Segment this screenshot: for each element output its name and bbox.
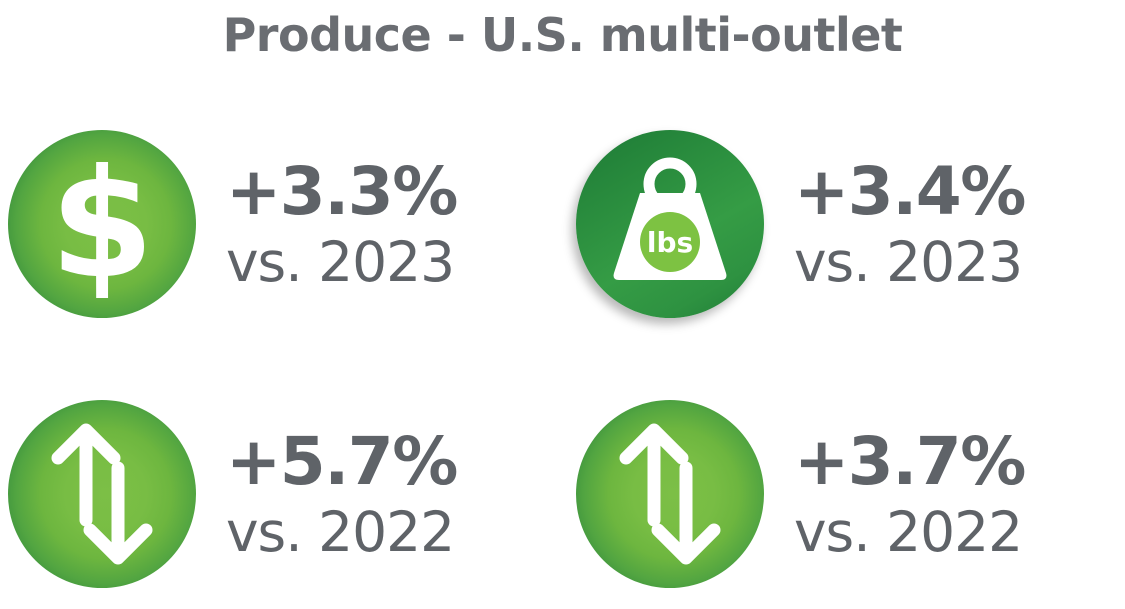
stat-card-dollar-sales-two-year: +5.7% vs. 2022 — [8, 400, 457, 588]
produce-stats-infographic: Produce - U.S. multi-outlet $ +3.3% vs. … — [0, 0, 1125, 609]
stat-text-block: +3.7% vs. 2022 — [794, 429, 1025, 560]
stats-grid: $ +3.3% vs. 2023 lbs — [0, 118, 1125, 609]
stat-text-block: +5.7% vs. 2022 — [226, 429, 457, 560]
stat-value: +3.7% — [794, 429, 1025, 495]
weight-lbs-icon: lbs — [576, 130, 764, 318]
stat-value: +3.3% — [226, 159, 457, 225]
stat-comparison-label: vs. 2022 — [226, 505, 457, 560]
page-title: Produce - U.S. multi-outlet — [0, 8, 1125, 62]
dollar-sign-icon: $ — [8, 130, 196, 318]
stat-value: +3.4% — [794, 159, 1025, 225]
stat-card-volume-pounds: lbs +3.4% vs. 2023 — [576, 130, 1025, 318]
lbs-badge-label: lbs — [647, 226, 693, 259]
svg-text:$: $ — [50, 138, 154, 312]
stat-comparison-label: vs. 2022 — [794, 505, 1025, 560]
stat-text-block: +3.4% vs. 2023 — [794, 159, 1025, 290]
stat-comparison-label: vs. 2023 — [794, 235, 1025, 290]
stat-comparison-label: vs. 2023 — [226, 235, 457, 290]
stat-text-block: +3.3% vs. 2023 — [226, 159, 457, 290]
stat-card-dollar-sales: $ +3.3% vs. 2023 — [8, 130, 457, 318]
up-down-arrows-icon — [576, 400, 764, 588]
up-down-arrows-icon — [8, 400, 196, 588]
stat-card-volume-two-year: +3.7% vs. 2022 — [576, 400, 1025, 588]
stat-value: +5.7% — [226, 429, 457, 495]
